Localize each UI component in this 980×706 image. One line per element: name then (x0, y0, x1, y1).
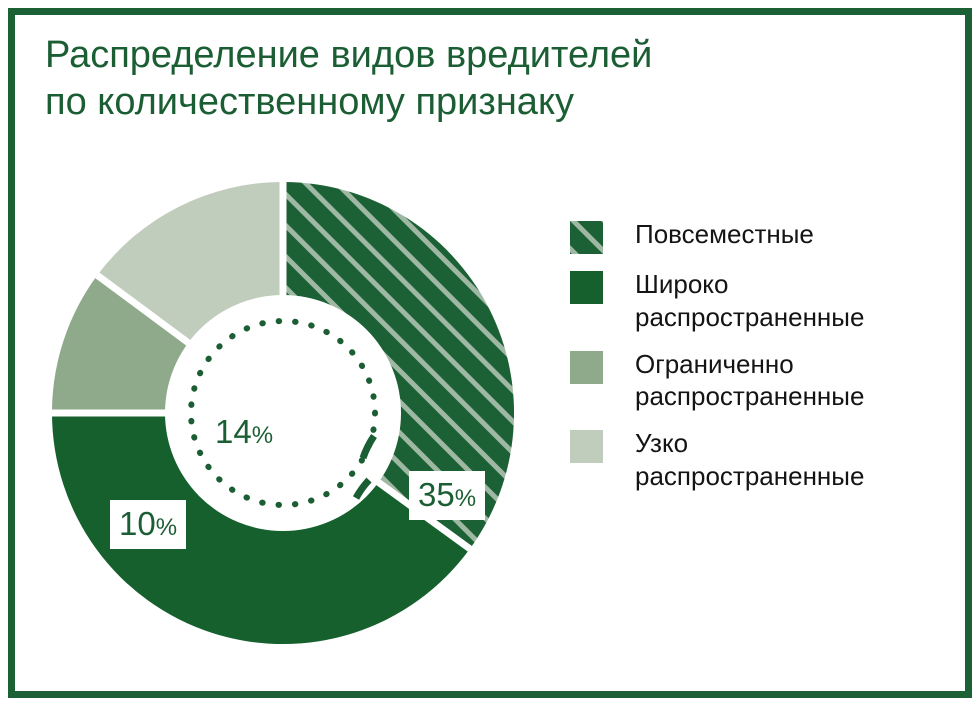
donut-hole (165, 295, 401, 531)
legend-item-povsemestnye[interactable]: Повсеместные (570, 218, 942, 254)
legend-label: Узко распространенные (635, 427, 864, 493)
page-title: Распределение видов вредителей по количе… (45, 32, 765, 125)
percent-sign: % (252, 422, 273, 449)
donut-chart-svg (38, 168, 538, 653)
slice-value-label-10: 10% (110, 500, 186, 549)
legend-item-shiroko[interactable]: Широко распространенные (570, 268, 942, 334)
chart-legend: Повсеместные Широко распространенные Огр… (570, 218, 942, 507)
percent-sign: % (455, 485, 476, 512)
donut-chart: 35% 40% 10% 14% (38, 168, 538, 653)
slice-value-number: 14 (215, 413, 252, 450)
legend-swatch-hatched-icon (570, 221, 603, 254)
legend-swatch-medium-green-icon (570, 351, 603, 384)
legend-label: Повсеместные (635, 218, 814, 251)
legend-item-ogranichenno[interactable]: Ограниченно распространенные (570, 348, 942, 414)
slice-value-label-14: 14% (206, 408, 282, 457)
legend-swatch-dark-green-icon (570, 271, 603, 304)
legend-label: Широко распространенные (635, 268, 864, 334)
legend-item-uzko[interactable]: Узко распространенные (570, 427, 942, 493)
slice-value-label-35: 35% (409, 471, 485, 520)
legend-label: Ограниченно распространенные (635, 348, 864, 414)
slice-value-number: 10 (119, 505, 156, 542)
slice-value-number: 35 (418, 476, 455, 513)
infographic-page: Распределение видов вредителей по количе… (0, 0, 980, 706)
legend-swatch-light-green-icon (570, 430, 603, 463)
percent-sign: % (156, 514, 177, 541)
